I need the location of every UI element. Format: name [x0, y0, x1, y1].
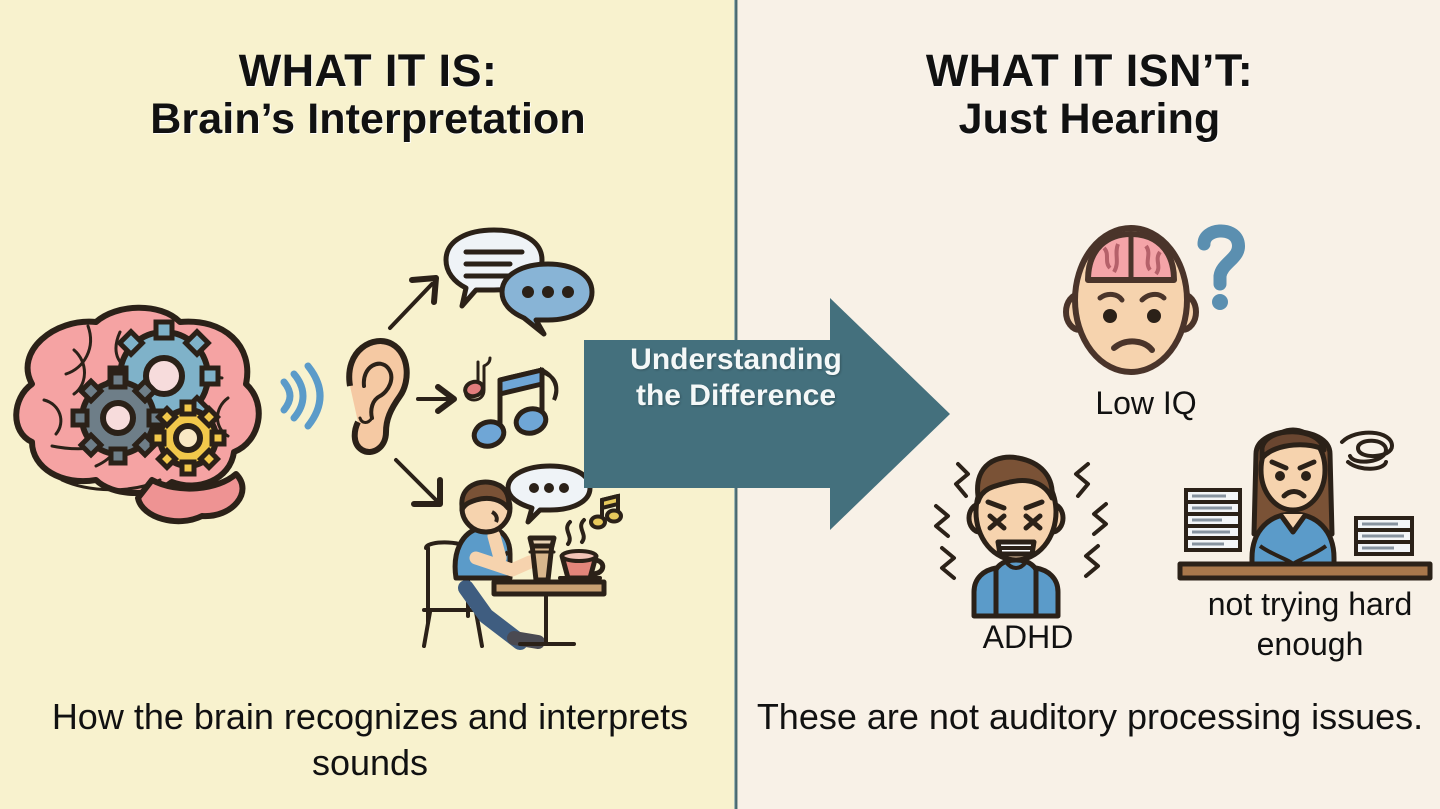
right-panel-caption: These are not auditory processing issues…	[750, 694, 1430, 740]
right-heading-line1: WHAT IT ISN’T:	[739, 48, 1440, 94]
ear-icon	[330, 330, 414, 460]
arrow-label-line2: the Difference	[598, 378, 874, 414]
infographic-canvas: WHAT IT IS: Brain’s Interpretation WHAT …	[0, 0, 1440, 809]
left-heading-line1: WHAT IT IS:	[0, 48, 736, 94]
arrow-right-icon	[414, 382, 460, 416]
left-heading-line2: Brain’s Interpretation	[0, 94, 736, 145]
arrow-shape	[584, 298, 950, 530]
label-adhd: ADHD	[928, 618, 1128, 657]
stressed-boy-icon	[928, 440, 1128, 620]
arrow-label: Understanding the Difference	[598, 342, 874, 414]
arrow-label-line1: Understanding	[598, 342, 874, 378]
right-panel-heading: WHAT IT ISN’T: Just Hearing	[739, 48, 1440, 145]
left-panel-heading: WHAT IT IS: Brain’s Interpretation	[0, 48, 736, 145]
frustrated-girl-at-desk-icon	[1180, 414, 1430, 594]
label-not-trying-hard-enough: not trying hard enough	[1185, 585, 1435, 664]
understanding-the-difference-arrow: Understanding the Difference	[584, 298, 950, 530]
left-panel-caption: How the brain recognizes and interprets …	[20, 694, 720, 786]
sound-waves-icon	[284, 356, 330, 436]
brain-with-gears-icon	[0, 292, 272, 532]
music-notes-icon	[460, 358, 570, 458]
right-heading-line2: Just Hearing	[739, 94, 1440, 145]
speech-bubbles-icon	[436, 226, 596, 336]
confused-head-with-brain-icon	[1048, 214, 1248, 394]
